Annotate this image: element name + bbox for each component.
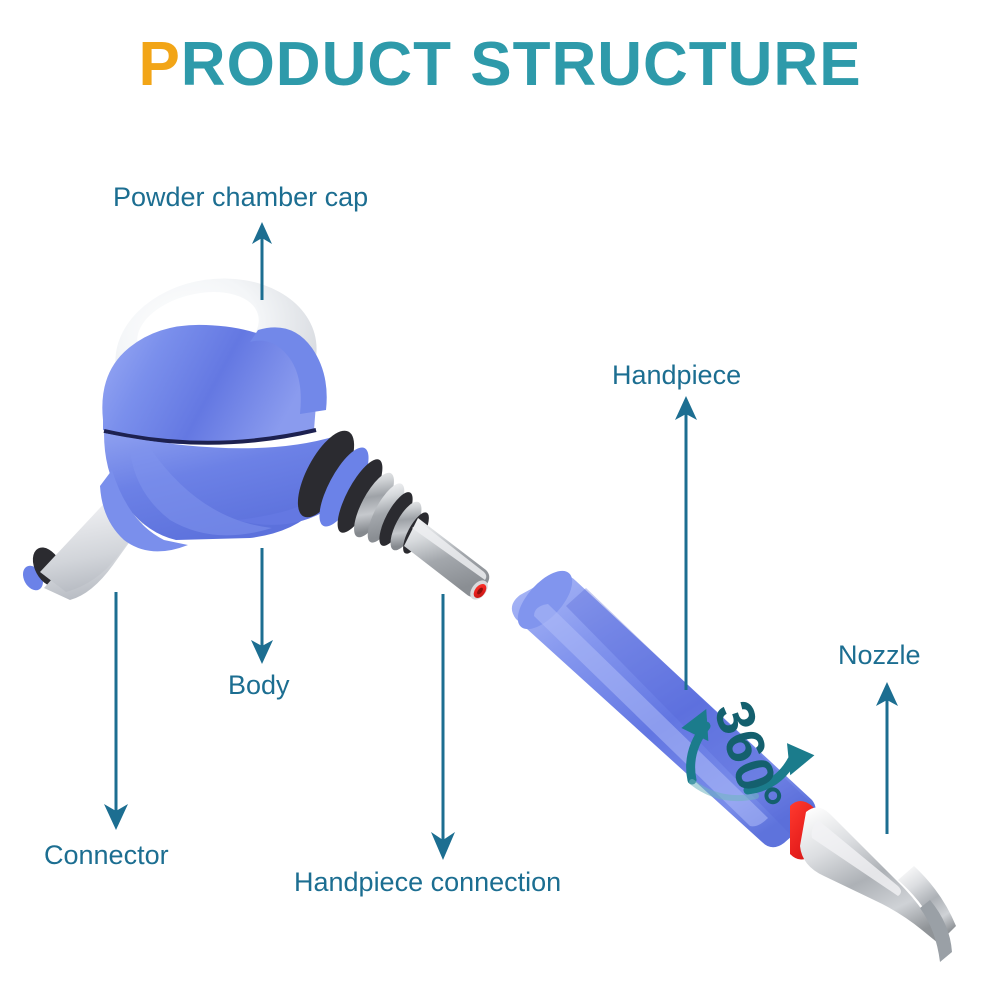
callout-label-connector: Connector	[44, 841, 169, 871]
leader-body	[251, 548, 273, 664]
product-structure-diagram: PRODUCT STRUCTURE	[0, 0, 1000, 1000]
leader-handpiece	[675, 396, 697, 690]
callout-label-handpiece: Handpiece	[612, 361, 741, 391]
leader-nozzle	[876, 682, 898, 834]
callout-label-powder-chamber-cap: Powder chamber cap	[113, 183, 368, 213]
callout-label-body: Body	[228, 671, 290, 701]
callout-label-handpiece-connection: Handpiece connection	[294, 868, 561, 898]
leader-handpiece-connection	[431, 594, 455, 860]
callout-label-nozzle: Nozzle	[838, 641, 921, 671]
leader-powder-chamber-cap	[252, 222, 272, 300]
leader-connector	[104, 592, 128, 830]
